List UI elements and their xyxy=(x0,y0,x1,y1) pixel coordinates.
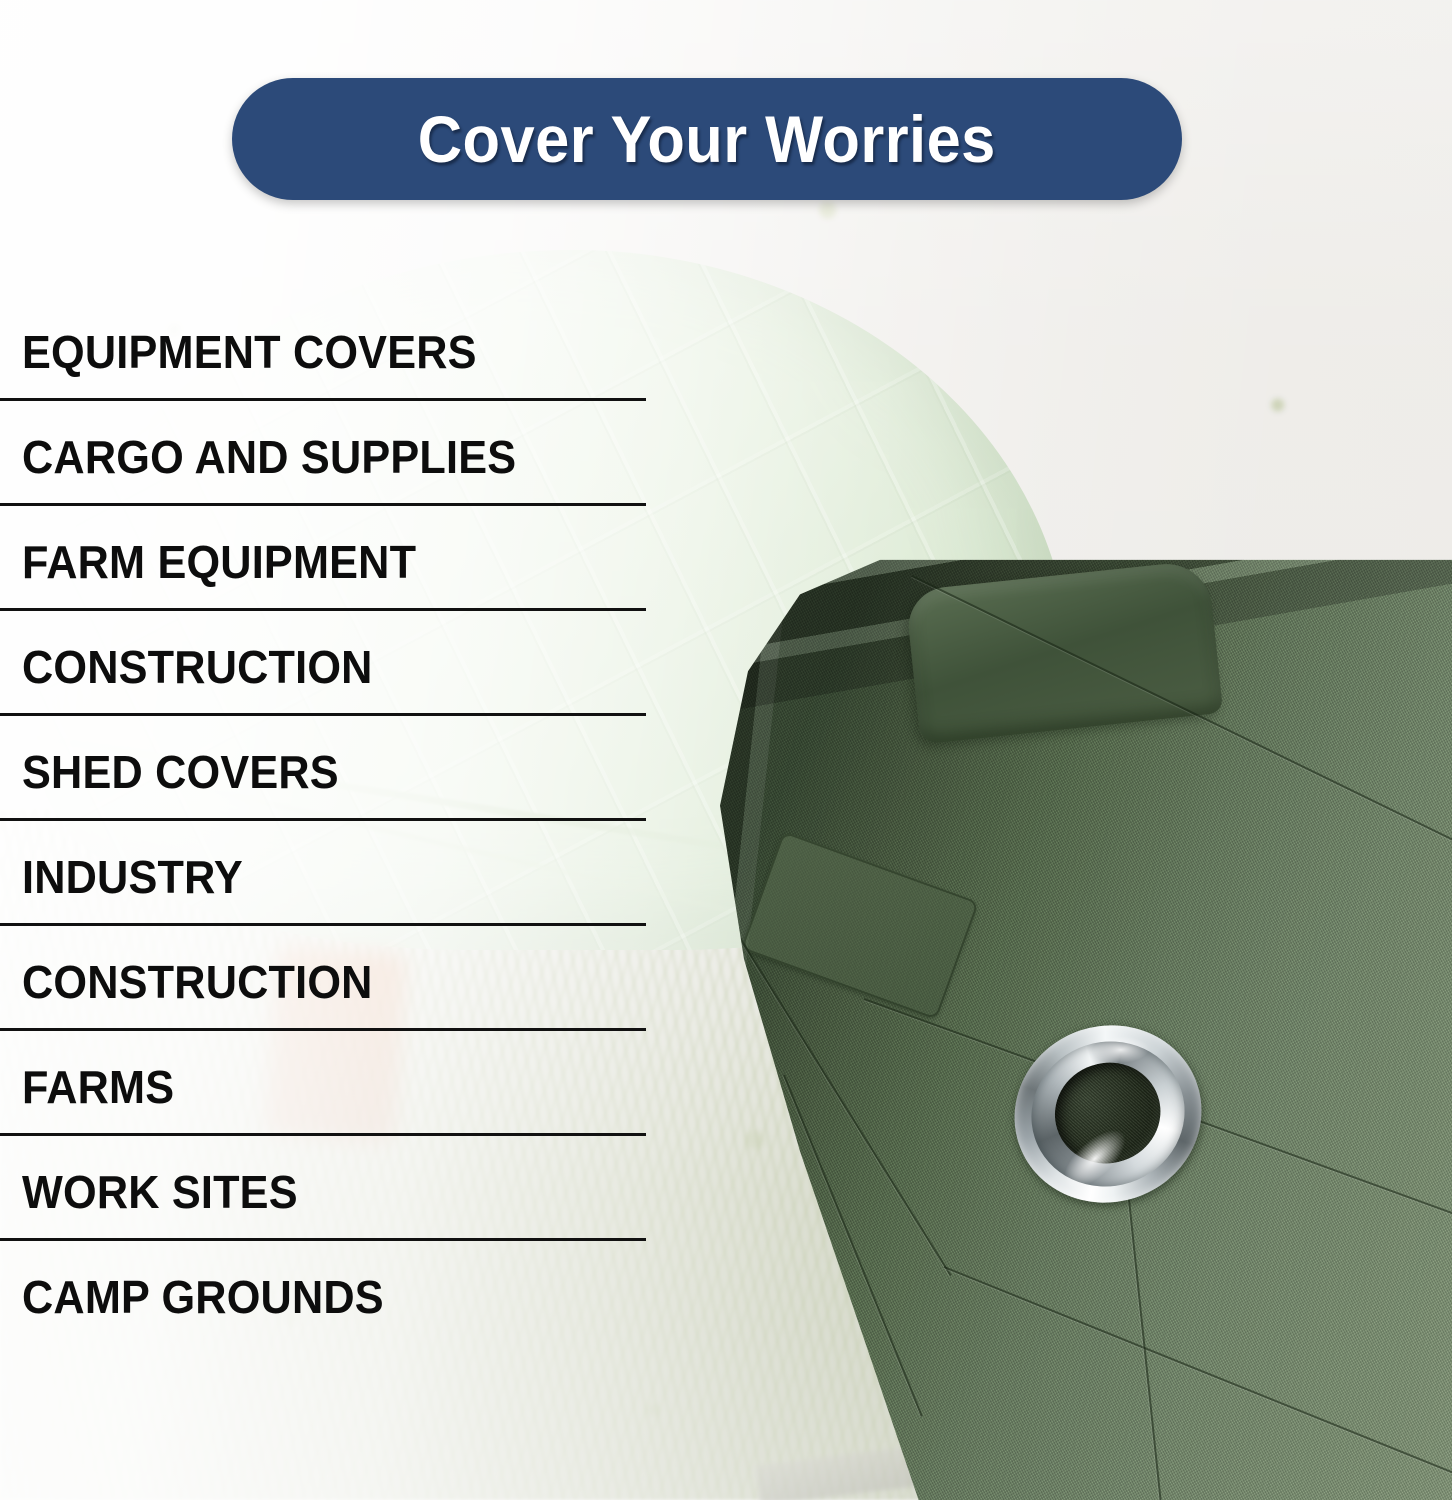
feature-list-item: FARM EQUIPMENT xyxy=(0,506,660,611)
feature-list-item: INDUSTRY xyxy=(0,821,660,926)
feature-list-item: FARMS xyxy=(0,1031,660,1136)
feature-list-item: CONSTRUCTION xyxy=(0,926,660,1031)
feature-label: CAMP GROUNDS xyxy=(22,1274,384,1320)
feature-label: FARMS xyxy=(22,1064,174,1110)
feature-label: FARM EQUIPMENT xyxy=(22,539,416,585)
feature-list-item: CARGO AND SUPPLIES xyxy=(0,401,660,506)
feature-list: EQUIPMENT COVERS CARGO AND SUPPLIES FARM… xyxy=(0,296,660,1346)
feature-list-item: SHED COVERS xyxy=(0,716,660,821)
feature-label: INDUSTRY xyxy=(22,854,243,900)
feature-list-item: WORK SITES xyxy=(0,1136,660,1241)
feature-list-item: EQUIPMENT COVERS xyxy=(0,296,660,401)
feature-label: CONSTRUCTION xyxy=(22,644,373,690)
feature-label: SHED COVERS xyxy=(22,749,339,795)
feature-label: WORK SITES xyxy=(22,1169,298,1215)
feature-list-item: CAMP GROUNDS xyxy=(0,1241,660,1346)
header-banner: Cover Your Worries xyxy=(232,78,1182,200)
product-feature-poster: Cover Your Worries EQUIPMENT COVERS CARG… xyxy=(0,0,1452,1500)
feature-label: CARGO AND SUPPLIES xyxy=(22,434,516,480)
feature-label: CONSTRUCTION xyxy=(22,959,373,1005)
feature-list-item: CONSTRUCTION xyxy=(0,611,660,716)
tarp-folded-cuff xyxy=(905,560,1223,745)
banner-title: Cover Your Worries xyxy=(418,101,996,177)
feature-label: EQUIPMENT COVERS xyxy=(22,329,477,375)
